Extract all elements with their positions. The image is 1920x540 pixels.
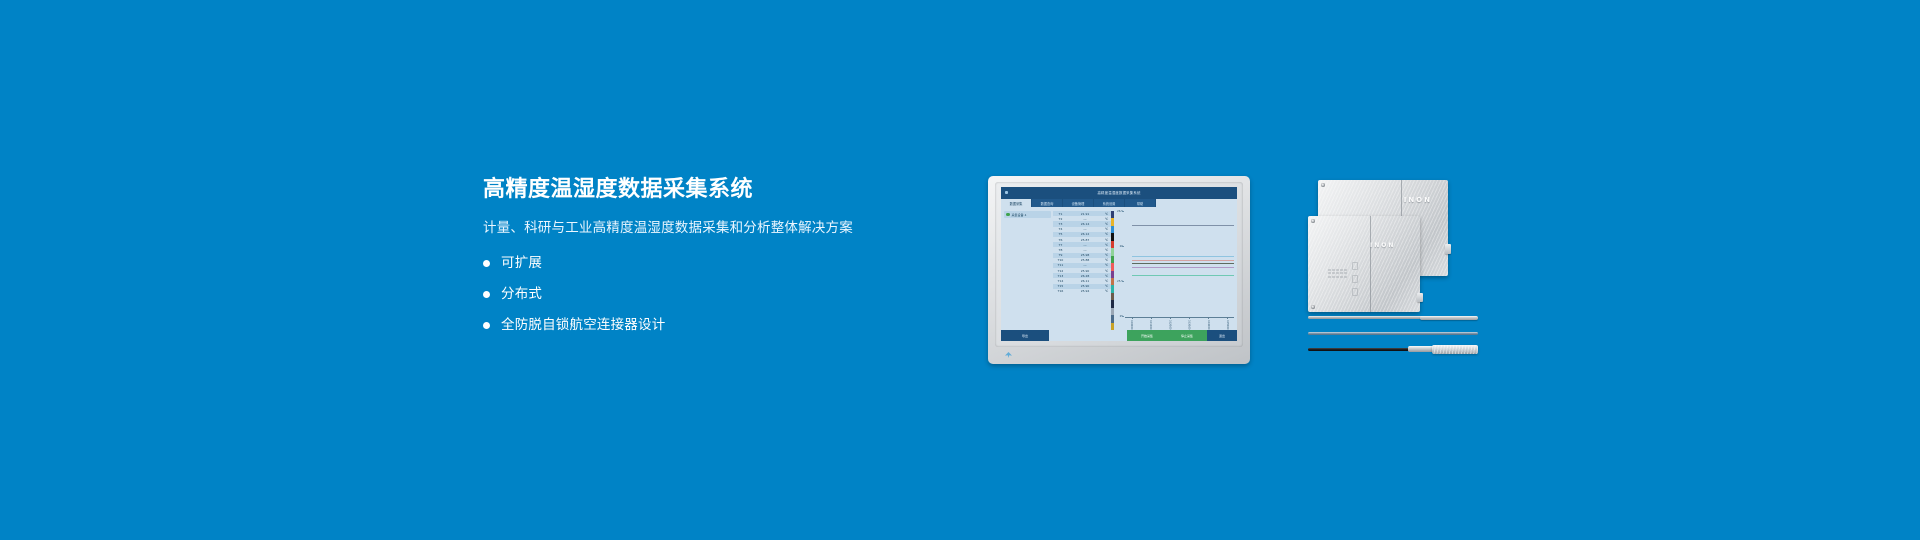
daq-application: 高精度温湿度数据采集系统 数据采集 数据查询 设备管理 系统设置 帮助 <box>1001 187 1237 341</box>
table-row[interactable]: T4 --- ℃ <box>1053 227 1111 232</box>
cell-unit: ℃ <box>1102 243 1111 247</box>
app-tab-bar: 数据采集 数据查询 设备管理 系统设置 帮助 <box>1001 198 1237 207</box>
cell-value: 26.14 <box>1068 222 1102 226</box>
chart-series-line <box>1132 275 1234 276</box>
chart-y-tick-mark <box>1122 211 1124 212</box>
probe-group <box>1308 316 1478 364</box>
channel-table: T1 21.91 ℃ T2 --- ℃ T3 26.14 <box>1053 207 1111 330</box>
daq-module-front: INON <box>1308 216 1420 312</box>
legend-color-swatch <box>1111 226 1114 233</box>
cell-unit: ℃ <box>1102 258 1111 262</box>
cell-value: --- <box>1068 248 1102 252</box>
cell-channel: T4 <box>1053 227 1068 231</box>
vent-slot <box>1340 269 1343 271</box>
chart-y-tick-mark <box>1122 281 1124 282</box>
probe-connector <box>1408 346 1434 352</box>
cell-channel: T11 <box>1053 263 1068 267</box>
legend-color-swatch <box>1111 263 1114 270</box>
chart-x-tick-label: 10:30:00 <box>1188 320 1191 329</box>
chart-x-axis: 10:00:0010:10:0010:20:0010:30:0010:40:00… <box>1125 317 1234 330</box>
chart-x-tick-label: 10:50:00 <box>1226 320 1229 329</box>
bullet-dot-icon <box>483 260 490 267</box>
legend-color-swatch <box>1111 323 1114 330</box>
cell-unit: ℃ <box>1102 238 1111 242</box>
table-row[interactable]: T9 25.98 ℃ <box>1053 253 1111 258</box>
cell-unit: ℃ <box>1102 217 1111 221</box>
vent-slot <box>1332 276 1335 278</box>
cell-unit: ℃ <box>1102 222 1111 226</box>
cell-value: --- <box>1068 243 1102 247</box>
cell-unit: ℃ <box>1102 289 1111 293</box>
screw-icon <box>1311 305 1315 309</box>
cell-unit: ℃ <box>1102 248 1111 252</box>
table-row[interactable]: T1 21.91 ℃ <box>1053 211 1111 216</box>
vent-slot <box>1328 272 1331 274</box>
cell-channel: T3 <box>1053 222 1068 226</box>
legend-color-swatch <box>1111 315 1114 322</box>
cell-unit: ℃ <box>1102 279 1111 283</box>
legend-color-swatch <box>1111 285 1114 292</box>
chart-series-line <box>1132 263 1234 264</box>
footer-spacer <box>1049 330 1127 341</box>
series-color-legend <box>1111 211 1114 330</box>
legend-color-swatch <box>1111 300 1114 307</box>
table-row[interactable]: T7 --- ℃ <box>1053 242 1111 247</box>
screw-icon <box>1311 219 1315 223</box>
panel-pc-monitor: 高精度温湿度数据采集系统 数据采集 数据查询 设备管理 系统设置 帮助 <box>988 176 1250 364</box>
module-brand-label: INON <box>1404 196 1432 204</box>
cell-unit: ℃ <box>1102 212 1111 216</box>
device-tree-node[interactable]: 采集设备-1 <box>1004 211 1051 218</box>
table-row[interactable]: T12 25.90 ℃ <box>1053 268 1111 273</box>
app-title-bar: 高精度温湿度数据采集系统 <box>1001 187 1237 198</box>
page-title: 高精度温湿度数据采集系统 <box>483 176 953 204</box>
app-footer-bar: 导出 开始采集 停止采集 退出 <box>1001 330 1237 341</box>
chart-y-tick-mark <box>1122 246 1124 247</box>
chart-plot-area <box>1125 211 1234 316</box>
cell-value: 25.94 <box>1068 289 1102 293</box>
chart-x-tick-label: 10:00:00 <box>1130 320 1133 329</box>
chart-y-axis: 26.52625.525 <box>1115 211 1124 316</box>
chart-x-tick-mark <box>1189 317 1190 319</box>
chart-x-tick-label: 10:10:00 <box>1149 320 1152 329</box>
stop-acquisition-button[interactable]: 停止采集 <box>1167 330 1207 341</box>
chart-series-line <box>1132 260 1234 261</box>
port-cluster-icon <box>1352 262 1358 296</box>
vent-slot <box>1340 272 1343 274</box>
cell-channel: T7 <box>1053 243 1068 247</box>
vent-slot <box>1344 269 1347 271</box>
table-row[interactable]: T6 25.87 ℃ <box>1053 237 1111 242</box>
tab-data-acquisition[interactable]: 数据采集 <box>1001 199 1031 207</box>
cell-unit: ℃ <box>1102 232 1111 236</box>
chart-x-tick-mark <box>1170 317 1171 319</box>
module-brand-label: INON <box>1370 242 1395 249</box>
feature-label: 分布式 <box>501 285 542 303</box>
list-item: 全防脱自锁航空连接器设计 <box>483 316 953 334</box>
cell-channel: T16 <box>1053 289 1068 293</box>
cell-channel: T6 <box>1053 238 1068 242</box>
legend-color-swatch <box>1111 293 1114 300</box>
table-row[interactable]: T5 26.12 ℃ <box>1053 232 1111 237</box>
connector-port <box>1417 293 1423 302</box>
app-body: 采集设备-1 T1 21.91 ℃ T2 --- <box>1001 207 1237 330</box>
cell-channel: T1 <box>1053 212 1068 216</box>
vent-slot <box>1340 276 1343 278</box>
chart-series-line <box>1132 256 1234 257</box>
table-row[interactable]: T10 25.88 ℃ <box>1053 258 1111 263</box>
list-item: 分布式 <box>483 285 953 303</box>
cell-value: 26.12 <box>1068 232 1102 236</box>
vent-slot <box>1336 269 1339 271</box>
legend-color-swatch <box>1111 233 1114 240</box>
legend-color-swatch <box>1111 308 1114 315</box>
cell-unit: ℃ <box>1102 284 1111 288</box>
tab-device-management[interactable]: 设备管理 <box>1063 199 1093 207</box>
cell-value: 25.88 <box>1068 258 1102 262</box>
cell-channel: T8 <box>1053 248 1068 252</box>
table-row[interactable]: T11 --- ℃ <box>1053 263 1111 268</box>
screw-icon <box>1321 183 1325 187</box>
page-subtitle: 计量、科研与工业高精度温湿度数据采集和分析整体解决方案 <box>483 218 953 238</box>
chart-series-line <box>1132 267 1234 268</box>
cell-unit: ℃ <box>1102 253 1111 257</box>
cell-value: 25.90 <box>1068 284 1102 288</box>
chart-x-tick-mark <box>1208 317 1209 319</box>
device-tree-panel: 采集设备-1 <box>1001 207 1053 330</box>
chart-series-line <box>1132 225 1234 226</box>
monitor-chin <box>995 347 1243 362</box>
probe-tip <box>1420 316 1478 320</box>
cell-channel: T15 <box>1053 284 1068 288</box>
probe-cable <box>1308 316 1426 319</box>
cell-channel: T9 <box>1053 253 1068 257</box>
probe-cable <box>1308 348 1412 351</box>
cell-unit: ℃ <box>1102 274 1111 278</box>
feature-list: 可扩展 分布式 全防脱自锁航空连接器设计 <box>483 254 953 334</box>
table-row[interactable]: T8 --- ℃ <box>1053 247 1111 252</box>
vent-slot <box>1332 272 1335 274</box>
chart-x-tick-mark <box>1151 317 1152 319</box>
monitor-screen: 高精度温湿度数据采集系统 数据采集 数据查询 设备管理 系统设置 帮助 <box>1001 187 1237 341</box>
vent-slot <box>1328 276 1331 278</box>
table-row[interactable]: T15 25.90 ℃ <box>1053 284 1111 289</box>
cell-value: --- <box>1068 227 1102 231</box>
chart-x-tick-mark <box>1227 317 1228 319</box>
chart-x-tick-label: 10:40:00 <box>1207 320 1210 329</box>
connector-port <box>1445 244 1451 254</box>
chart-y-tick-mark <box>1122 316 1124 317</box>
vent-grille-icon <box>1328 269 1347 278</box>
legend-color-swatch <box>1111 256 1114 263</box>
legend-color-swatch <box>1111 278 1114 285</box>
cell-value: 25.90 <box>1068 269 1102 273</box>
bullet-dot-icon <box>483 322 490 329</box>
tab-bar-filler <box>1156 199 1237 207</box>
vent-slot <box>1336 272 1339 274</box>
table-row[interactable]: T2 --- ℃ <box>1053 216 1111 221</box>
tab-data-query[interactable]: 数据查询 <box>1032 199 1062 207</box>
bullet-dot-icon <box>483 291 490 298</box>
cell-value: 21.91 <box>1068 212 1102 216</box>
cell-channel: T12 <box>1053 269 1068 273</box>
start-acquisition-button[interactable]: 开始采集 <box>1127 330 1167 341</box>
cell-channel: T10 <box>1053 258 1068 262</box>
device-tree-label: 采集设备-1 <box>1012 213 1027 217</box>
feature-label: 可扩展 <box>501 254 542 272</box>
cell-channel: T13 <box>1053 274 1068 278</box>
cell-value: 26.28 <box>1068 274 1102 278</box>
probe-body <box>1432 345 1478 354</box>
app-title-label: 高精度温湿度数据采集系统 <box>1001 190 1237 195</box>
monitor-inner-bezel: 高精度温湿度数据采集系统 数据采集 数据查询 设备管理 系统设置 帮助 <box>995 182 1243 347</box>
vent-slot <box>1344 272 1347 274</box>
legend-color-swatch <box>1111 241 1114 248</box>
table-row[interactable]: T14 26.11 ℃ <box>1053 278 1111 283</box>
list-item: 可扩展 <box>483 254 953 272</box>
feature-label: 全防脱自锁航空连接器设计 <box>501 316 665 334</box>
cell-value: --- <box>1068 217 1102 221</box>
chart-x-tick-label: 10:20:00 <box>1168 320 1171 329</box>
brand-logo-icon <box>1005 352 1012 358</box>
legend-color-swatch <box>1111 271 1114 278</box>
cell-unit: ℃ <box>1102 269 1111 273</box>
cell-value: --- <box>1068 263 1102 267</box>
cell-unit: ℃ <box>1102 263 1111 267</box>
tab-system-settings[interactable]: 系统设置 <box>1094 199 1124 207</box>
table-row[interactable]: T16 25.94 ℃ <box>1053 289 1111 294</box>
table-row[interactable]: T3 26.14 ℃ <box>1053 221 1111 226</box>
table-row[interactable]: T13 26.28 ℃ <box>1053 273 1111 278</box>
probe-cable <box>1308 332 1478 335</box>
legend-color-swatch <box>1111 218 1114 225</box>
hero-copy-block: 高精度温湿度数据采集系统 计量、科研与工业高精度温湿度数据采集和分析整体解决方案… <box>483 176 953 347</box>
vent-slot <box>1344 276 1347 278</box>
hero-banner: 高精度温湿度数据采集系统 计量、科研与工业高精度温湿度数据采集和分析整体解决方案… <box>0 0 1920 540</box>
cell-value: 25.98 <box>1068 253 1102 257</box>
legend-color-swatch <box>1111 248 1114 255</box>
cell-channel: T14 <box>1053 279 1068 283</box>
cell-channel: T5 <box>1053 232 1068 236</box>
vent-slot <box>1328 269 1331 271</box>
cell-value: 25.87 <box>1068 238 1102 242</box>
trend-chart: 26.52625.525 10:00:0010:10:0010:20:0010:… <box>1115 207 1237 330</box>
module-seam <box>1370 216 1371 312</box>
vent-slot <box>1336 276 1339 278</box>
legend-color-swatch <box>1111 211 1114 218</box>
tab-help[interactable]: 帮助 <box>1125 199 1155 207</box>
cell-channel: T2 <box>1053 217 1068 221</box>
vent-slot <box>1332 269 1335 271</box>
status-online-icon <box>1006 213 1010 217</box>
exit-button[interactable]: 退出 <box>1207 330 1237 341</box>
cell-unit: ℃ <box>1102 227 1111 231</box>
cell-value: 26.11 <box>1068 279 1102 283</box>
chart-x-tick-mark <box>1132 317 1133 319</box>
export-button[interactable]: 导出 <box>1001 330 1049 341</box>
